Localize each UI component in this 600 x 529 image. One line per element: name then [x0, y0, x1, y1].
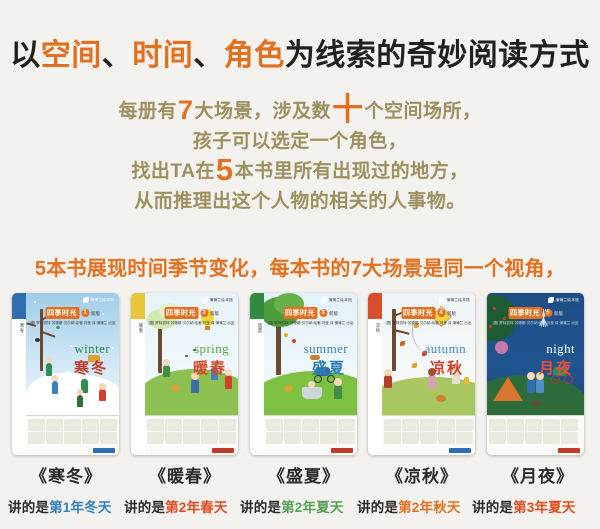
person-figure: [77, 395, 83, 407]
index-icon: [165, 432, 182, 444]
person-head: [46, 357, 52, 363]
fruit-icon: [503, 317, 506, 320]
person-figure: [99, 389, 106, 401]
index-icon: [456, 432, 473, 444]
book-caption-autumn: 《凉秋》: [362, 462, 482, 487]
series-label: 四季时光: [508, 307, 542, 319]
cover-scene-summer: 蒲蒲兰绘本馆 四季时光 3 新版 [德] 罗特劳特·苏珊娜·贝尔纳 绘著 刘莹 …: [264, 293, 357, 415]
person-head: [77, 389, 83, 395]
volume-number: 1: [81, 309, 89, 317]
index-icon: [219, 419, 236, 431]
book-cover-summer[interactable]: 盛夏: [250, 293, 357, 455]
publisher-mark: [93, 448, 115, 453]
index-icon: [147, 432, 164, 444]
publisher-name: 蒲蒲兰绘本馆: [210, 298, 233, 303]
note-value: 第1年冬天: [49, 500, 112, 515]
leaf-icon: [83, 297, 89, 303]
title-highlight-space: 空间: [41, 39, 102, 72]
title-chinese: 盛夏: [312, 357, 346, 378]
spine-color-block: [250, 293, 264, 319]
line3-number-5: 5: [215, 152, 235, 187]
book-note-night: 讲的是第3年夏天: [472, 496, 576, 516]
paragraph-line-4: 从而推理出这个人物的相关的人事物。: [0, 187, 600, 217]
person-figure: [334, 385, 342, 399]
index-icon: [338, 419, 355, 431]
line1-text-b: 大场景，涉及数: [195, 101, 332, 122]
index-icon: [302, 432, 319, 444]
icon-cells: [28, 419, 117, 444]
promo-page: 以空间、时间、角色为线索的奇妙阅读方式 每册有7大场景，涉及数十个空间场所， 孩…: [0, 0, 600, 529]
line3-text-a: 找出TA在: [131, 161, 214, 182]
index-icon: [402, 419, 419, 431]
book-cover-autumn[interactable]: 凉秋: [368, 293, 475, 455]
title-sep-1: 、: [102, 39, 133, 72]
index-icon: [525, 432, 542, 444]
book-note-autumn: 讲的是第2年秋天: [357, 496, 461, 516]
person-head: [308, 381, 315, 388]
title-english: winter: [74, 341, 110, 357]
title-chinese: 月夜: [539, 357, 573, 378]
title-english: night: [546, 341, 575, 357]
publisher-logo: 蒲蒲兰绘本馆: [83, 297, 114, 303]
fruit-icon: [284, 333, 288, 337]
book-cover-winter[interactable]: 寒冬: [12, 293, 119, 455]
index-icon: [525, 419, 542, 431]
icon-index-strip: [145, 415, 238, 455]
spine-title: 暖春: [132, 323, 144, 333]
index-icon: [561, 432, 578, 444]
book-byline: [德] 罗特劳特·苏珊娜·贝尔纳 绘著 刘莹 译 蒲蒲兰 出品: [386, 321, 472, 326]
chicken-icon: [436, 395, 446, 402]
book-note-summer: 讲的是第2年夏天: [240, 496, 344, 516]
person-figure: [527, 379, 535, 393]
index-icon: [82, 419, 99, 431]
publisher-mark: [212, 448, 234, 453]
index-icon: [266, 432, 283, 444]
snowflake: [34, 301, 36, 303]
index-icon: [420, 419, 437, 431]
spine-title: 凉秋: [369, 323, 381, 333]
title-chinese: 凉秋: [430, 357, 464, 378]
leaf-icon: [412, 363, 417, 368]
book-spine-spring: 暖春: [131, 293, 146, 455]
icon-index-strip: [382, 415, 475, 455]
leaf-icon: [400, 341, 405, 346]
fruit-icon: [489, 325, 492, 328]
index-icon: [489, 432, 506, 444]
index-icon: [82, 432, 99, 444]
note-prefix: 讲的是: [124, 500, 165, 515]
index-icon: [284, 432, 301, 444]
book-note-spring: 讲的是第2年春天: [124, 496, 228, 516]
title-sep-2: 、: [193, 39, 224, 72]
book-caption-night: 《月夜》: [478, 462, 598, 487]
note-value: 第3年夏天: [513, 500, 576, 515]
book-caption-summer: 《盛夏》: [244, 462, 364, 487]
index-icon: [456, 419, 473, 431]
index-icon: [384, 432, 401, 444]
title-english: summer: [304, 341, 348, 357]
title-suffix: 为线索的奇妙阅读方式: [285, 39, 590, 72]
title-prefix: 以: [10, 39, 41, 72]
index-icon: [46, 432, 63, 444]
series-label: 四季时光: [164, 307, 198, 319]
volume-text: 新版: [210, 311, 219, 316]
snowflake: [70, 345, 72, 347]
index-icon: [384, 419, 401, 431]
leaf-icon: [321, 297, 327, 303]
note-value: 第2年秋天: [398, 500, 461, 515]
book-note-winter: 讲的是第1年冬天: [8, 496, 112, 516]
person-figure: [384, 375, 392, 388]
publisher-logo: 蒲蒲兰绘本馆: [439, 297, 470, 303]
animal-icon: [171, 385, 180, 391]
volume-text: 新版: [91, 311, 100, 316]
index-icon: [64, 419, 81, 431]
index-icon: [46, 419, 63, 431]
book-spine-winter: 寒冬: [12, 293, 27, 455]
spine-color-block: [131, 293, 145, 319]
spine-color-block: [368, 293, 382, 319]
snowflake: [112, 347, 114, 349]
index-icon: [561, 419, 578, 431]
publisher-name: 蒲蒲兰绘本馆: [329, 298, 352, 303]
index-icon: [165, 419, 182, 431]
note-prefix: 讲的是: [240, 500, 281, 515]
person-figure: [52, 381, 58, 394]
note-prefix: 讲的是: [472, 500, 513, 515]
index-icon: [402, 432, 419, 444]
index-icon: [183, 432, 200, 444]
book-caption-spring: 《暖春》: [125, 462, 245, 487]
title-highlight-role: 角色: [224, 39, 285, 72]
person-head: [527, 372, 535, 380]
publisher-mark: [449, 448, 471, 453]
index-icon: [100, 419, 117, 431]
volume-number: 2: [200, 309, 208, 317]
series-band-spring: 四季时光 2 新版: [164, 307, 219, 319]
snowman-icon: [60, 381, 76, 397]
line3-text-b: 本书里所有出现过的地方，: [235, 161, 469, 182]
paragraph-line-2: 孩子可以选定一个角色，: [0, 127, 600, 157]
page-title: 以空间、时间、角色为线索的奇妙阅读方式: [0, 36, 600, 76]
book-byline: [德] 罗特劳特·苏珊娜·贝尔纳 绘著 刘莹 译 蒲蒲兰 出品: [30, 321, 116, 326]
index-icon: [338, 432, 355, 444]
line1-number-ten: 十: [331, 92, 365, 127]
publisher-logo: 蒲蒲兰绘本馆: [548, 297, 579, 303]
paragraph-line-3: 找出TA在5本书里所有出现过的地方，: [0, 157, 600, 187]
bird-icon: [185, 355, 188, 357]
publisher-name: 蒲蒲兰绘本馆: [447, 298, 470, 303]
note-value: 第2年夏天: [281, 500, 344, 515]
hedgehog-icon: [531, 401, 540, 406]
season-subline: 5本书展现时间季节变化，每本书的7大场景是同一个视角，: [0, 255, 600, 283]
index-icon: [438, 419, 455, 431]
lantern-icon: [464, 377, 469, 385]
series-label: 四季时光: [401, 307, 435, 319]
index-icon: [320, 419, 337, 431]
cover-art-summer: 蒲蒲兰绘本馆 四季时光 3 新版 [德] 罗特劳特·苏珊娜·贝尔纳 绘著 刘莹 …: [264, 293, 357, 455]
index-icon: [320, 432, 337, 444]
index-icon: [201, 432, 218, 444]
person-head: [334, 378, 342, 386]
index-icon: [100, 432, 117, 444]
icon-index-strip: [487, 415, 584, 455]
index-icon: [266, 419, 283, 431]
cover-art-winter: 蒲蒲兰绘本馆 四季时光 1 新版 [德] 罗特劳特·苏珊娜·贝尔纳 绘著 刘莹 …: [26, 293, 119, 455]
intro-paragraph: 每册有7大场景，涉及数十个空间场所， 孩子可以选定一个角色， 找出TA在5本书里…: [0, 97, 600, 217]
book-shelf: 寒冬: [0, 293, 600, 457]
leaf-icon: [439, 297, 445, 303]
book-spine-autumn: 凉秋: [368, 293, 383, 455]
index-icon: [28, 432, 45, 444]
bird-icon: [56, 326, 60, 329]
book-byline: [德] 罗特劳特·苏珊娜·贝尔纳 绘著 刘莹 译 蒲蒲兰 出品: [149, 321, 235, 326]
book-caption-winter: 《寒冬》: [6, 462, 126, 487]
title-english: autumn: [425, 341, 466, 357]
series-label: 四季时光: [45, 307, 79, 319]
title-english: spring: [194, 341, 229, 357]
series-band-night: 四季时光 5 新版: [508, 307, 563, 319]
tree-trunk: [392, 309, 396, 371]
spine-color-block: [12, 293, 26, 319]
person-figure: [536, 379, 544, 393]
book-spine-summer: 盛夏: [250, 293, 265, 455]
balloon-basket: [205, 326, 210, 330]
index-icon: [438, 432, 455, 444]
line1-text-a: 每册有: [118, 101, 177, 122]
index-icon: [543, 432, 560, 444]
note-prefix: 讲的是: [357, 500, 398, 515]
series-band-winter: 四季时光 1 新版: [45, 307, 100, 319]
series-band-summer: 四季时光 3 新版: [283, 307, 338, 319]
index-icon: [507, 419, 524, 431]
index-icon: [543, 419, 560, 431]
bird-icon: [35, 338, 40, 342]
index-icon: [219, 432, 236, 444]
person-head: [163, 359, 170, 366]
cover-scene-night: 蒲蒲兰绘本馆 四季时光 5 新版 [德] 罗特劳特·苏珊娜·贝尔纳 绘著 刘莹 …: [487, 293, 584, 415]
book-cover-night[interactable]: 月夜: [487, 293, 584, 455]
person-head: [384, 369, 392, 376]
index-icon: [64, 432, 81, 444]
snowflake: [102, 313, 104, 315]
series-label: 四季时光: [283, 307, 317, 319]
index-icon: [183, 419, 200, 431]
animal-icon: [284, 385, 293, 392]
title-chinese: 寒冬: [74, 357, 108, 378]
spine-title: 寒冬: [13, 323, 25, 333]
leaf-icon: [548, 297, 554, 303]
index-icon: [507, 432, 524, 444]
book-byline: [德] 罗特劳特·苏珊娜·贝尔纳 绘著 刘莹 译 蒲蒲兰 出品: [268, 321, 354, 326]
line1-text-c: 个空间场所，: [365, 101, 482, 122]
book-cover-spring[interactable]: 暖春: [131, 293, 238, 455]
icon-index-strip: [264, 415, 357, 455]
book-byline: [德] 罗特劳特·苏珊娜·贝尔纳 绘著 刘莹 译 蒲蒲兰 出品: [493, 321, 579, 326]
title-highlight-time: 时间: [132, 39, 193, 72]
volume-text: 新版: [554, 311, 563, 316]
icon-index-strip: [26, 415, 119, 455]
fruit-icon: [292, 339, 296, 343]
cover-art-spring: 蒲蒲兰绘本馆 四季时光 2 新版 [德] 罗特劳特·苏珊娜·贝尔纳 绘著 刘莹 …: [145, 293, 238, 455]
icon-cells: [489, 419, 582, 444]
person-figure: [46, 363, 52, 376]
index-icon: [284, 419, 301, 431]
volume-number: 3: [319, 309, 327, 317]
cover-scene-winter: 蒲蒲兰绘本馆 四季时光 1 新版 [德] 罗特劳特·苏珊娜·贝尔纳 绘著 刘莹 …: [26, 293, 119, 415]
publisher-name: 蒲蒲兰绘本馆: [556, 298, 579, 303]
icon-cells: [147, 419, 236, 444]
publisher-mark: [331, 448, 353, 453]
volume-number: 5: [544, 309, 552, 317]
index-icon: [420, 432, 437, 444]
publisher-mark: [558, 448, 580, 453]
cover-scene-autumn: 蒲蒲兰绘本馆 四季时光 4 新版 [德] 罗特劳特·苏珊娜·贝尔纳 绘著 刘莹 …: [382, 293, 475, 415]
icon-cells: [266, 419, 355, 444]
person-head: [52, 375, 58, 381]
index-icon: [201, 419, 218, 431]
index-icon: [147, 419, 164, 431]
series-band-autumn: 四季时光 4 新版: [401, 307, 456, 319]
icon-cells: [384, 419, 473, 444]
fruit-icon: [493, 307, 496, 310]
index-icon: [302, 419, 319, 431]
title-chinese: 暖春: [193, 357, 227, 378]
cover-art-night: 蒲蒲兰绘本馆 四季时光 5 新版 [德] 罗特劳特·苏珊娜·贝尔纳 绘著 刘莹 …: [487, 293, 584, 455]
publisher-logo: 蒲蒲兰绘本馆: [321, 297, 352, 303]
person-figure: [191, 379, 199, 393]
index-icon: [28, 419, 45, 431]
paragraph-line-1: 每册有7大场景，涉及数十个空间场所，: [0, 97, 600, 127]
volume-text: 新版: [329, 311, 338, 316]
wash-tub: [302, 387, 322, 399]
note-value: 第2年春天: [165, 500, 228, 515]
spine-title: 盛夏: [251, 323, 263, 333]
person-head: [99, 383, 106, 390]
leaf-icon: [202, 297, 208, 303]
firework-burst: [495, 341, 508, 354]
person-figure: [163, 365, 170, 377]
cover-art-autumn: 蒲蒲兰绘本馆 四季时光 4 新版 [德] 罗特劳特·苏珊娜·贝尔纳 绘著 刘莹 …: [382, 293, 475, 455]
index-icon: [489, 419, 506, 431]
line1-number-7: 7: [177, 95, 195, 125]
volume-text: 新版: [447, 311, 456, 316]
publisher-name: 蒲蒲兰绘本馆: [91, 298, 114, 303]
cover-scene-spring: 蒲蒲兰绘本馆 四季时光 2 新版 [德] 罗特劳特·苏珊娜·贝尔纳 绘著 刘莹 …: [145, 293, 238, 415]
volume-number: 4: [437, 309, 445, 317]
note-prefix: 讲的是: [8, 500, 49, 515]
publisher-logo: 蒲蒲兰绘本馆: [202, 297, 233, 303]
